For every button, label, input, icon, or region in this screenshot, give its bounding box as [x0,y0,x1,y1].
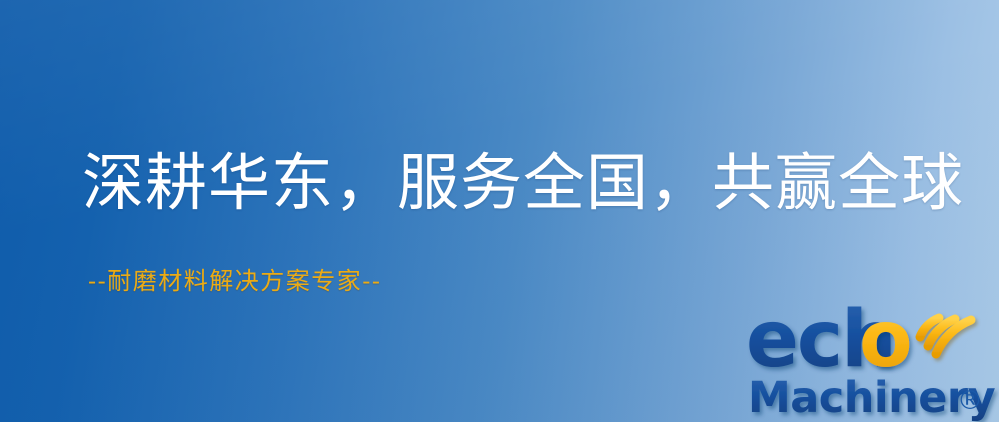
echo-machinery-logo[interactable]: ech o Machinery ® [742,290,999,422]
logo-wordmark-o: o [859,295,913,385]
banner-subtitle: --耐磨材料解决方案专家-- [88,268,381,294]
registered-trademark-icon: ® [957,386,983,416]
banner-headline: 深耕华东，服务全国，共赢全球 [82,152,964,214]
signal-waves-icon [920,318,971,354]
hero-banner: 深耕华东，服务全国，共赢全球 --耐磨材料解决方案专家-- [0,0,999,422]
logo-o-text: o [859,295,913,385]
